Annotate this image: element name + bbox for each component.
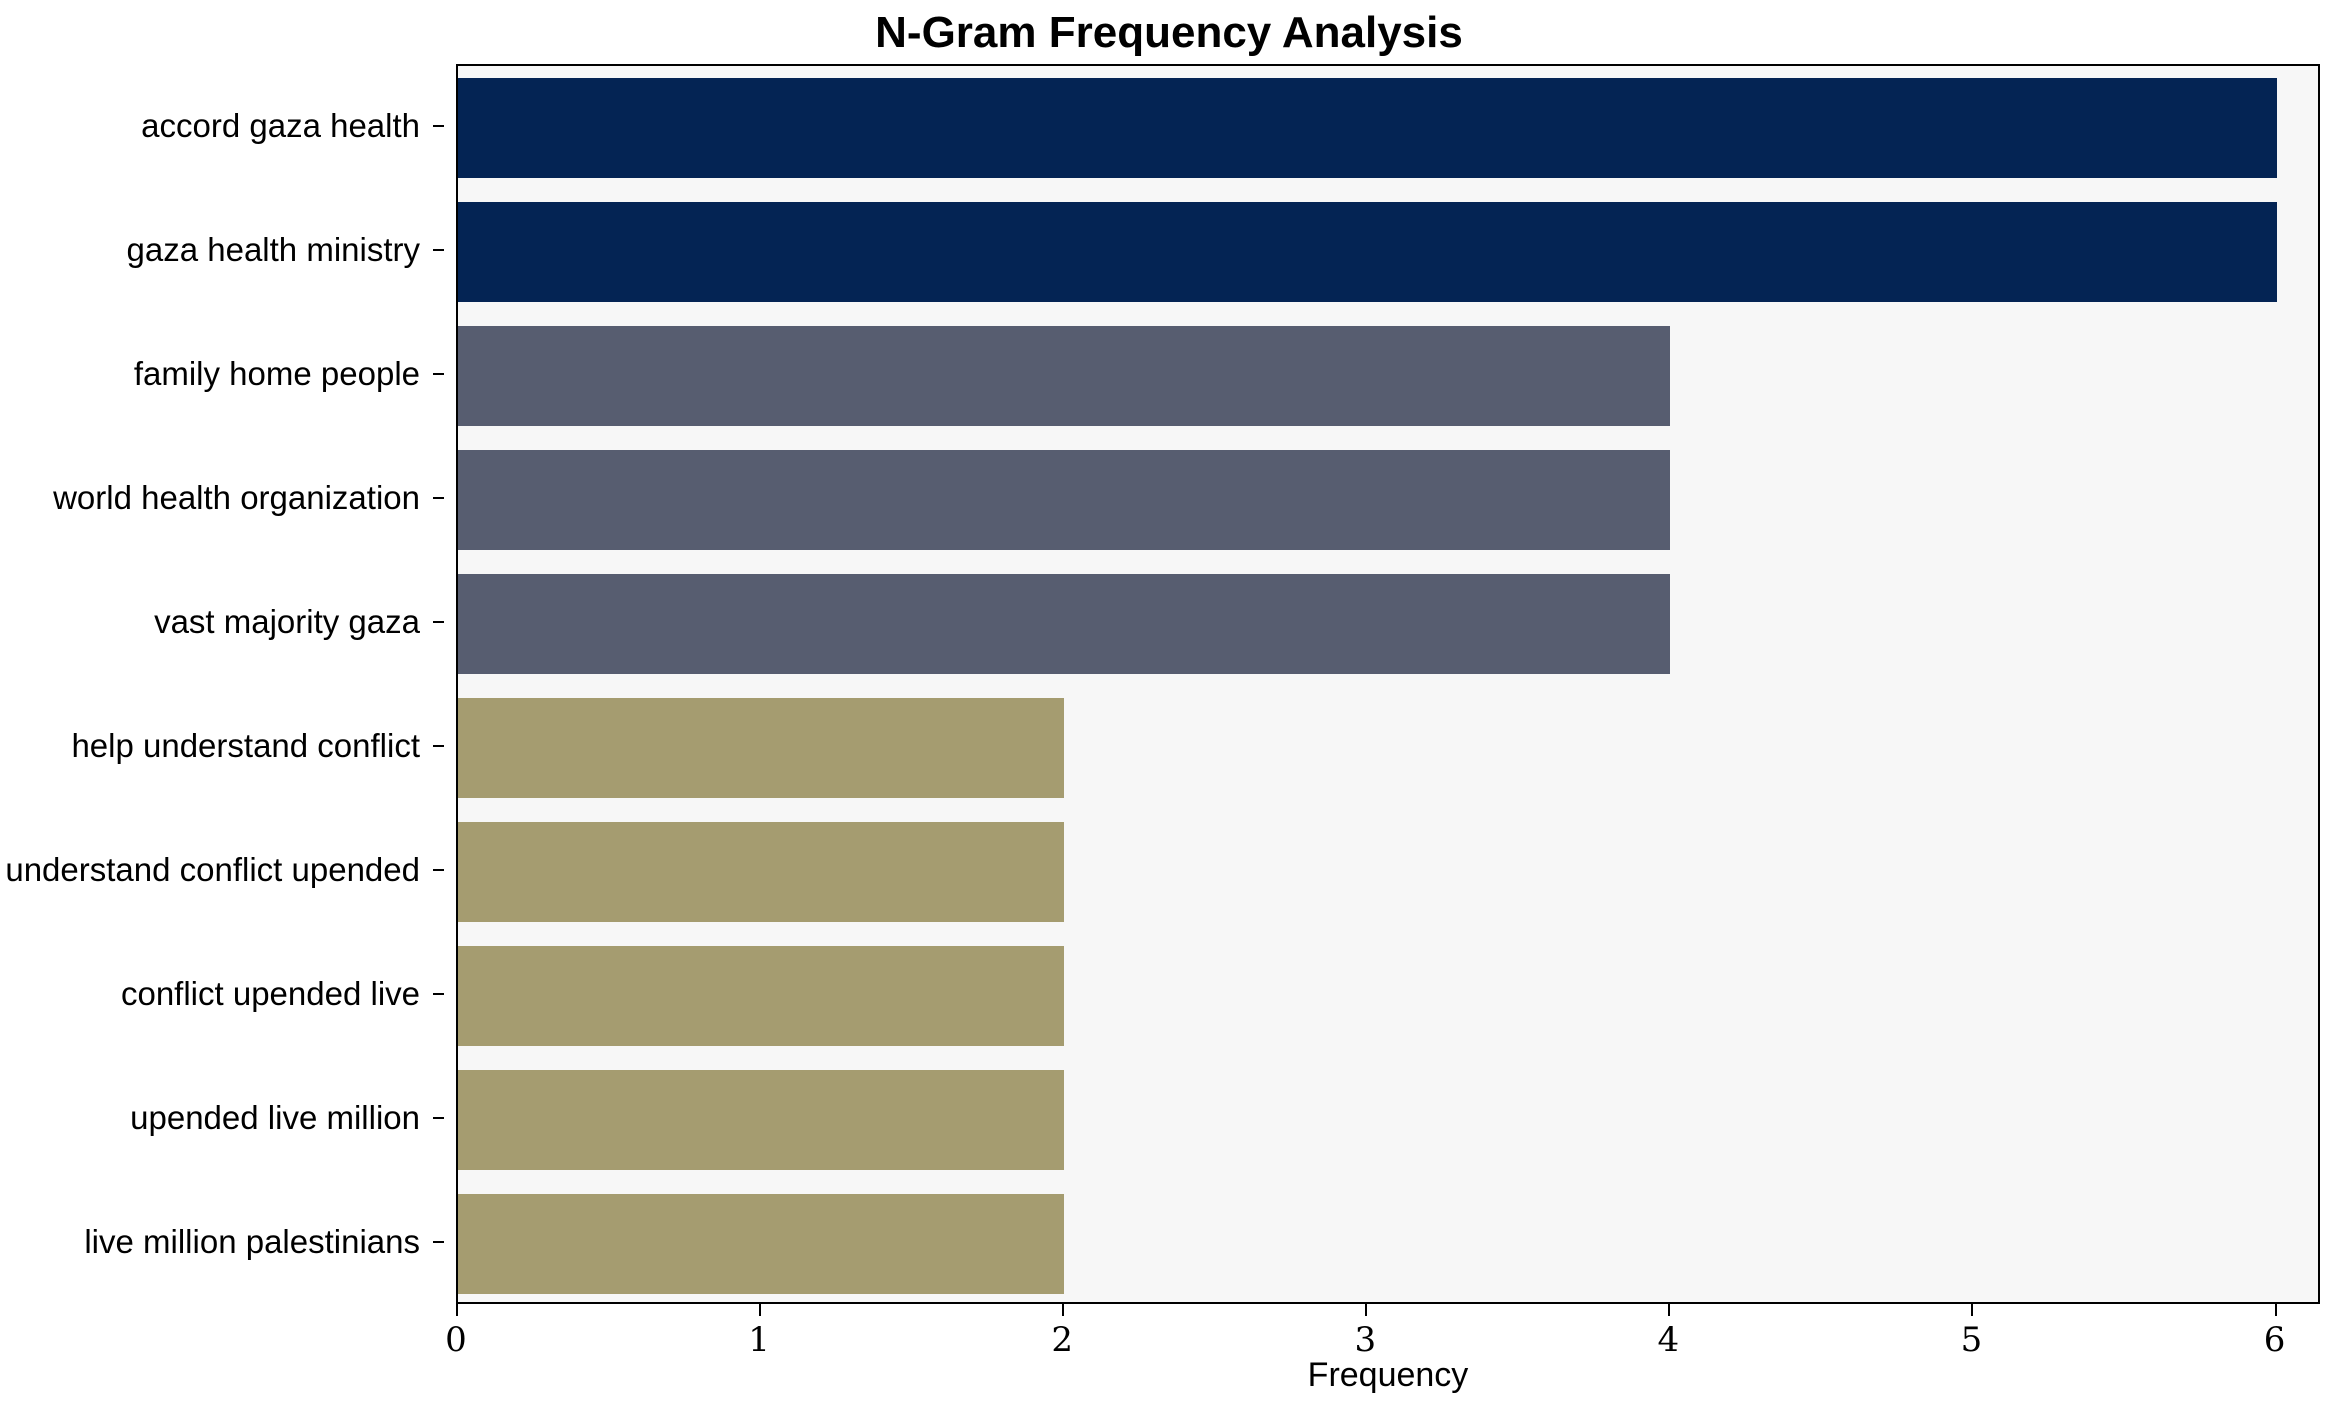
bar[interactable] [458, 1194, 1064, 1293]
y-axis-tick-mark [433, 869, 444, 871]
y-axis-tick-mark [433, 497, 444, 499]
y-axis-tick-label: world health organization [53, 479, 420, 517]
bars-layer [458, 66, 2318, 1302]
x-axis-tick-mark [456, 1304, 458, 1316]
bar[interactable] [458, 78, 2277, 177]
bar[interactable] [458, 202, 2277, 301]
x-axis-tick-label: 3 [1354, 1320, 1376, 1360]
bar[interactable] [458, 450, 1670, 549]
y-axis-tick-label: upended live million [130, 1099, 420, 1137]
y-axis-tick-mark [433, 373, 444, 375]
y-axis-tick-label: conflict upended live [121, 975, 420, 1013]
x-axis-tick-mark [1971, 1304, 1973, 1316]
y-axis-tick-mark [433, 1117, 444, 1119]
y-axis-tick-label: vast majority gaza [154, 603, 420, 641]
x-axis-tick-mark [1365, 1304, 1367, 1316]
y-axis-tick-label: family home people [134, 355, 420, 393]
bar[interactable] [458, 1070, 1064, 1169]
bar[interactable] [458, 574, 1670, 673]
x-axis-tick-label: 4 [1658, 1320, 1680, 1360]
y-axis-tick-label: accord gaza health [141, 107, 420, 145]
bar[interactable] [458, 698, 1064, 797]
x-axis-tick-label: 2 [1051, 1320, 1073, 1360]
page-title: N-Gram Frequency Analysis [0, 8, 2338, 58]
x-axis-tick-label: 6 [2264, 1320, 2286, 1360]
y-axis-tick-mark [433, 745, 444, 747]
y-axis-tick-mark [433, 1241, 444, 1243]
chart-figure: N-Gram Frequency Analysis accord gaza he… [0, 0, 2338, 1414]
x-axis-tick-mark [2275, 1304, 2277, 1316]
plot-area [456, 64, 2320, 1304]
bar[interactable] [458, 822, 1064, 921]
y-axis-tick-mark [433, 621, 444, 623]
y-axis-tick-mark [433, 249, 444, 251]
x-axis-tick-label: 1 [748, 1320, 770, 1360]
y-axis-tick-label: understand conflict upended [5, 851, 420, 889]
bar[interactable] [458, 946, 1064, 1045]
x-axis-tick-label: 5 [1961, 1320, 1983, 1360]
bar[interactable] [458, 326, 1670, 425]
x-axis-tick-label: 0 [445, 1320, 467, 1360]
y-axis-tick-labels: accord gaza healthgaza health ministryfa… [0, 64, 444, 1304]
y-axis-tick-label: gaza health ministry [127, 231, 420, 269]
y-axis-tick-label: help understand conflict [71, 727, 420, 765]
x-axis-tick-mark [1668, 1304, 1670, 1316]
x-axis-tick-mark [759, 1304, 761, 1316]
x-axis-tick-mark [1062, 1304, 1064, 1316]
x-axis-label: Frequency [456, 1356, 2320, 1395]
y-axis-tick-label: live million palestinians [84, 1223, 420, 1261]
y-axis-tick-mark [433, 125, 444, 127]
y-axis-tick-mark [433, 993, 444, 995]
